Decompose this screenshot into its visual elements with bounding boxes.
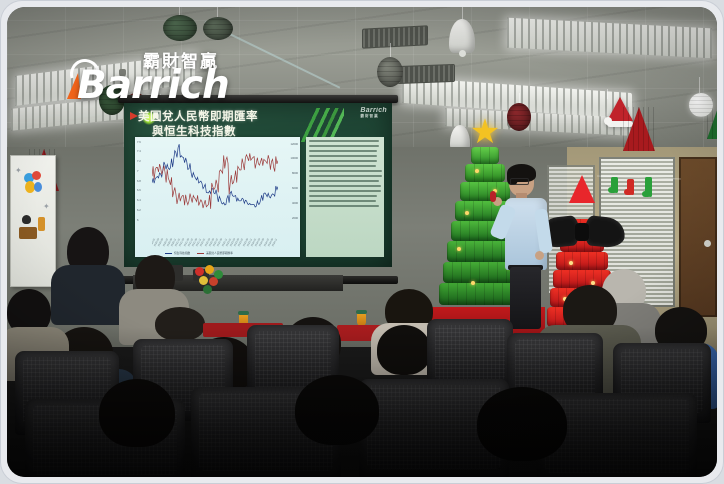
audience-head — [295, 375, 379, 445]
chart-legend-item: 恒生科技指數 — [165, 251, 190, 255]
paper-honeycomb-ball — [203, 17, 233, 40]
slide-title: 美圓兌人民幣即期匯率 與恒生科技指數 — [138, 109, 328, 139]
audience-head — [377, 325, 431, 375]
brand-logo-overlay: 霸財智贏 Barrich — [63, 45, 263, 105]
chart-y-tick: 7.6 — [137, 142, 141, 145]
chart-y2-tick: 4000 — [292, 203, 298, 206]
chart-y-tick: 6.8 — [137, 181, 141, 184]
christmas-stocking-icon — [627, 179, 634, 195]
chart-y2-tick: 12000 — [291, 144, 298, 147]
slide-text-line — [309, 185, 381, 187]
slide-text-line — [309, 155, 377, 157]
slide-text-line — [309, 145, 379, 147]
seminar-photo: ✦ ✦ Barrich 霸財智贏 美圓兌人民幣即期匯率 與恒生科技指數 — [7, 7, 717, 477]
sticker-dot — [32, 171, 41, 180]
sticker-dot — [34, 182, 42, 192]
christmas-stocking-icon — [645, 177, 652, 197]
ceiling-vent — [397, 64, 455, 84]
slide-text-block — [306, 137, 384, 257]
audience-head — [99, 379, 175, 447]
chart-y2-tick: 2000 — [292, 218, 298, 221]
slide-text-line — [309, 140, 379, 142]
paper-honeycomb-ball — [377, 57, 403, 87]
presenter — [501, 167, 553, 332]
chart-y2-tick: 8000 — [292, 173, 298, 176]
presenter-hand — [535, 251, 544, 260]
red-tree-top — [569, 175, 595, 203]
slide-text-line — [309, 200, 376, 202]
paper-honeycomb-ball — [163, 15, 197, 41]
slide-text-line — [309, 165, 376, 167]
slide-text-line — [309, 150, 377, 152]
slide-text-line — [309, 160, 377, 162]
chart-y2-tick: 6000 — [292, 188, 298, 191]
glasses-icon — [510, 178, 529, 185]
slide-text-line — [309, 205, 379, 207]
chart-y-tick: 7.2 — [137, 161, 141, 164]
chart-y-tick: 6.2 — [137, 210, 141, 213]
microphone — [490, 191, 496, 202]
ceiling-vent — [362, 25, 428, 48]
whiteboard: ✦ ✦ — [10, 155, 56, 287]
christmas-stocking-icon — [611, 177, 618, 193]
projected-slide: Barrich 霸財智贏 美圓兌人民幣即期匯率 與恒生科技指數 7.67.47.… — [124, 103, 392, 267]
snowman-sticker — [22, 215, 31, 224]
slide-text-line — [309, 180, 379, 182]
chart-lines — [152, 143, 278, 221]
screenshot-root: ✦ ✦ Barrich 霸財智贏 美圓兌人民幣即期匯率 與恒生科技指數 — [0, 0, 724, 484]
chart-y-tick: 7 — [137, 171, 139, 174]
paper-christmas-tree — [623, 107, 655, 151]
chart-y2-tick: 10000 — [291, 158, 298, 161]
audience-head — [477, 387, 567, 461]
chart-y-tick: 6.6 — [137, 190, 141, 193]
chart-x-axis-labels: 2020-012020-032020-052020-072020-092020-… — [152, 223, 278, 247]
chart-plot-area — [152, 143, 278, 221]
slide-chart: 7.67.47.276.86.66.46.26 1200010000800060… — [135, 137, 300, 257]
slide-text-line — [309, 175, 382, 177]
projector-screen: Barrich 霸財智贏 美圓兌人民幣即期匯率 與恒生科技指數 7.67.47.… — [124, 95, 392, 275]
chart-y-tick: 6.4 — [137, 200, 141, 203]
slide-text-line — [309, 195, 377, 197]
star-sticker-icon: ✦ — [43, 203, 50, 211]
chart-legend: 恒生科技指數美圓兌人民幣即期匯率 — [165, 251, 233, 255]
chart-legend-item: 美圓兌人民幣即期匯率 — [197, 251, 233, 255]
red-arrow-icon — [130, 112, 138, 120]
wooden-door — [679, 157, 717, 317]
slide-watermark-logo: Barrich 霸財智贏 — [360, 107, 387, 119]
sticker-dot — [38, 217, 45, 231]
audience-head — [155, 307, 205, 341]
chart-y-tick: 6 — [137, 220, 139, 223]
white-snowball-icon — [689, 93, 713, 117]
slide-text-line — [309, 170, 382, 172]
chart-y-tick: 7.4 — [137, 151, 141, 154]
star-sticker-icon: ✦ — [15, 167, 22, 175]
presenter-trousers — [510, 267, 541, 329]
star-topper-icon: ★ — [468, 115, 502, 149]
flower-arrangement — [193, 265, 227, 299]
slide-text-line — [309, 190, 381, 192]
audience-body — [51, 265, 125, 325]
slide-title-line1: 美圓兌人民幣即期匯率 — [138, 109, 328, 124]
sticker-dot — [19, 227, 37, 239]
brand-name: Barrich — [77, 63, 229, 108]
